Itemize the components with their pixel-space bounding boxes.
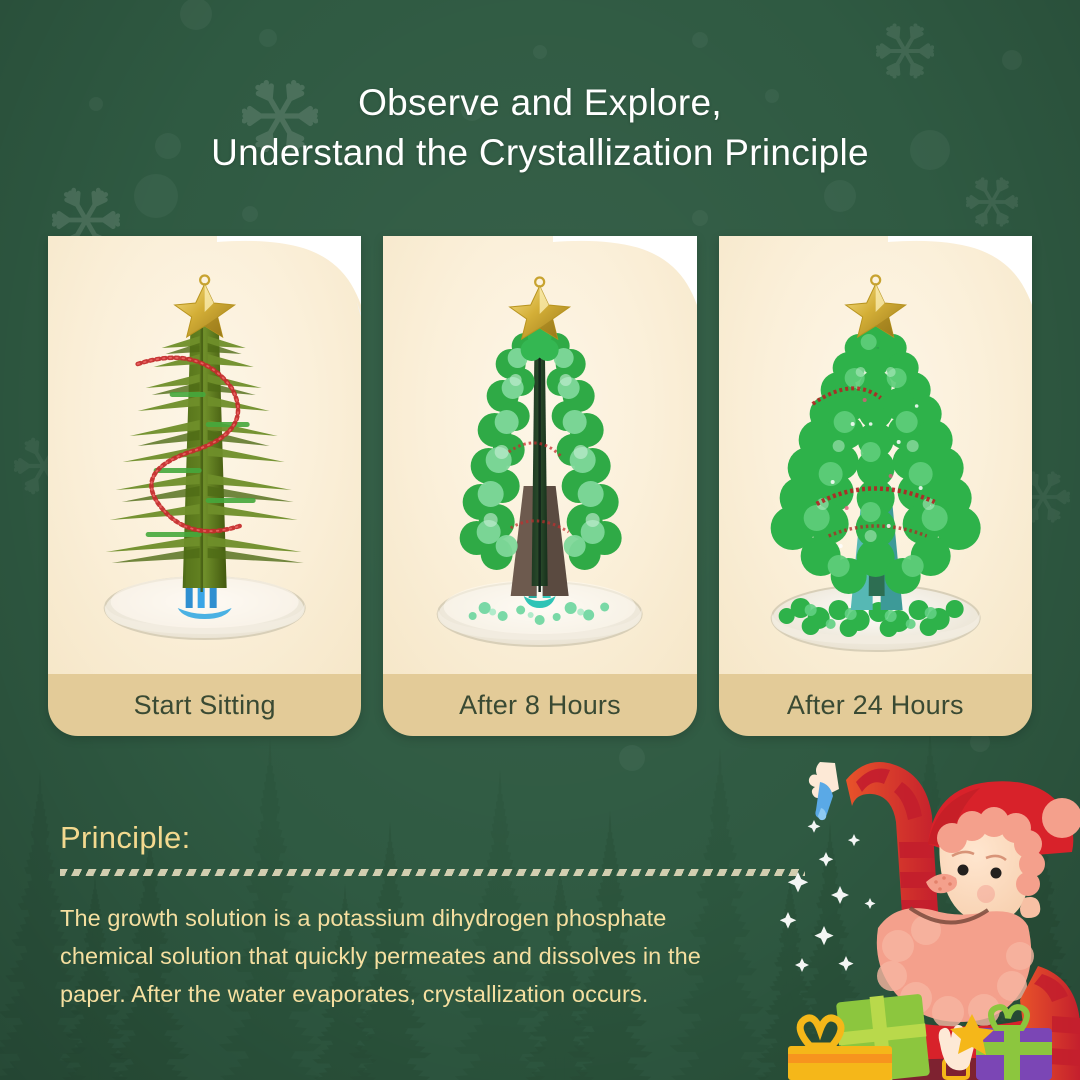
santa-illustration (780, 760, 1080, 1080)
stage-card-after-24-hours[interactable]: After 24 Hours (719, 236, 1032, 736)
santa-eye-left (958, 865, 969, 876)
principle-body-line-3: paper. After the water evaporates, cryst… (60, 975, 790, 1013)
bokeh-dot (134, 174, 178, 218)
sparkle-cluster (780, 820, 876, 972)
principle-divider (60, 869, 805, 876)
bokeh-dot (692, 210, 708, 226)
bokeh-dot (259, 29, 277, 47)
stage-caption-start-sitting: Start Sitting (48, 674, 361, 736)
bokeh-dot (824, 180, 856, 212)
bokeh-dot (533, 45, 547, 59)
bokeh-dot (180, 0, 212, 30)
snow-cap-icon (217, 236, 361, 342)
gift-bow-icon (800, 1018, 841, 1046)
bokeh-dot (242, 206, 258, 222)
principle-section: Principle: The growth solution is a pota… (60, 820, 790, 1013)
stage-photo-after-8-hours (383, 236, 696, 674)
principle-body-line-1: The growth solution is a potassium dihyd… (60, 899, 790, 937)
stage-photo-after-24-hours (719, 236, 1032, 674)
stage-card-start-sitting[interactable]: Start Sitting (48, 236, 361, 736)
principle-body: The growth solution is a potassium dihyd… (60, 899, 790, 1013)
page-title: Observe and Explore, Understand the Crys… (0, 78, 1080, 178)
page-title-line-1: Observe and Explore, (0, 78, 1080, 128)
principle-body-line-2: chemical solution that quickly permeates… (60, 937, 790, 975)
bokeh-dot (692, 32, 708, 48)
stage-caption-after-24-hours: After 24 Hours (719, 674, 1032, 736)
bokeh-dot (1002, 50, 1022, 70)
stage-caption-after-8-hours: After 8 Hours (383, 674, 696, 736)
santa-hand-dropper (809, 762, 839, 820)
crystal-clusters-24h (770, 320, 980, 594)
stage-photo-start-sitting (48, 236, 361, 674)
snow-cap-icon (888, 236, 1032, 342)
snowflake-icon (966, 176, 1018, 228)
snow-cap-icon (553, 236, 697, 342)
bokeh-dot (619, 745, 645, 771)
stage-card-after-8-hours[interactable]: After 8 Hours (383, 236, 696, 736)
snowflake-icon (876, 22, 934, 80)
page-title-line-2: Understand the Crystallization Principle (0, 128, 1080, 178)
principle-heading: Principle: (60, 820, 790, 856)
santa-eye-right (991, 868, 1002, 879)
stage-card-list: Start Sitting (48, 236, 1032, 736)
